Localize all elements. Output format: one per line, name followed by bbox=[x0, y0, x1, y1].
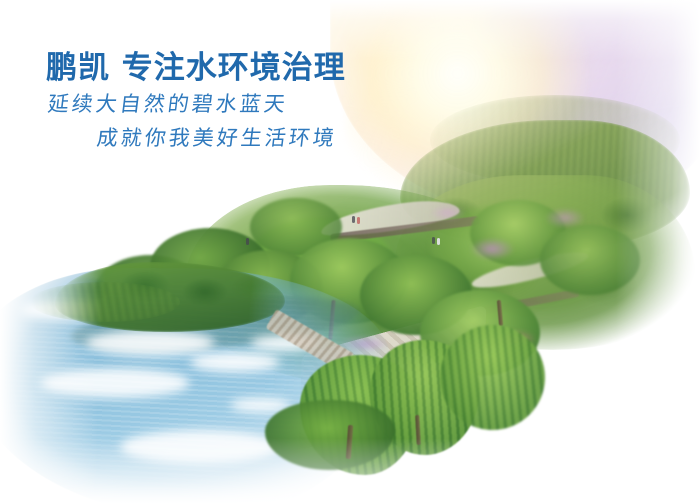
page-title: 鹏凯 专注水环境治理 bbox=[46, 42, 346, 87]
left-bank-shrubs bbox=[30, 282, 180, 322]
flower-bed-far-right bbox=[545, 208, 585, 228]
cloud-reflection bbox=[40, 368, 190, 398]
cloud-reflection bbox=[85, 330, 215, 356]
flower-bed-upper bbox=[430, 205, 466, 221]
banner-root: 鹏凯 专注水环境治理 延续大自然的碧水蓝天 成就你我美好生活环境 bbox=[0, 0, 700, 504]
person-figure bbox=[432, 237, 435, 244]
willow-tree-right bbox=[440, 325, 545, 430]
cloud-reflection bbox=[120, 430, 280, 464]
person-figure bbox=[437, 238, 440, 245]
slogan-text-block: 鹏凯 专注水环境治理 延续大自然的碧水蓝天 成就你我美好生活环境 bbox=[0, 0, 420, 180]
person-figure bbox=[357, 217, 360, 224]
tree-cluster-right-lower bbox=[540, 225, 640, 295]
person-figure bbox=[246, 238, 249, 245]
slogan-line-two: 成就你我美好生活环境 bbox=[95, 122, 339, 152]
cloud-reflection bbox=[190, 352, 280, 372]
person-figure bbox=[352, 216, 355, 223]
slogan-line-one: 延续大自然的碧水蓝天 bbox=[46, 88, 290, 118]
flower-bed-right bbox=[470, 238, 514, 260]
